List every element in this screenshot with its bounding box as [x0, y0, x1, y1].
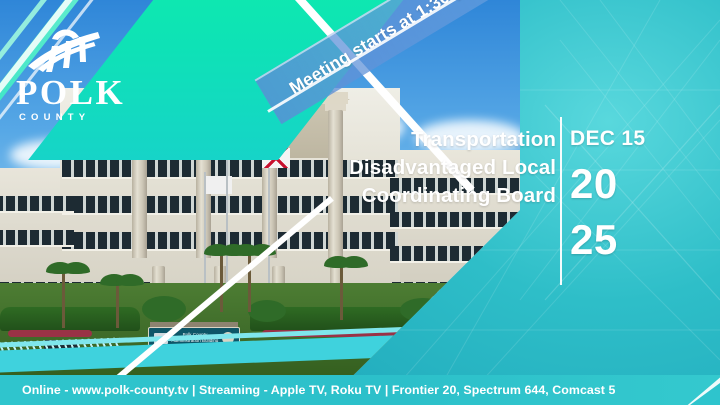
footer-bar: Online - www.polk-county.tv | Streaming …: [0, 375, 720, 405]
polk-county-sunburst-road-logo-icon: [22, 22, 108, 74]
shrub: [248, 300, 286, 322]
window-band: [0, 230, 74, 245]
palm-tree: [220, 250, 223, 312]
meeting-date: DEC 15 20 25: [570, 128, 645, 262]
palm-frond: [116, 274, 144, 286]
meeting-title-line-1: Transportation: [300, 126, 556, 154]
footer-chevron-accent: [690, 383, 720, 405]
palm-frond: [62, 262, 90, 274]
meeting-year-top: 20: [570, 162, 645, 206]
palm-frond: [340, 256, 368, 268]
window-band: [390, 212, 520, 227]
title-date-divider: [560, 117, 562, 285]
flower-bed: [8, 330, 92, 337]
meeting-title-line-3: Coordinating Board: [300, 182, 556, 210]
hedge: [0, 307, 140, 331]
flag-white: [206, 176, 232, 194]
shrub: [142, 296, 186, 322]
footer-streaming-info: Online - www.polk-county.tv | Streaming …: [0, 383, 615, 397]
palm-tree: [248, 250, 251, 312]
window-band: [0, 196, 74, 211]
meeting-year-bottom: 25: [570, 218, 645, 262]
polk-county-logo: POLK COUNTY: [16, 22, 132, 123]
meeting-month-day: DEC 15: [570, 128, 645, 150]
logo-wordmark-county: COUNTY: [16, 112, 132, 123]
palm-tree: [62, 268, 65, 328]
logo-wordmark-polk: POLK: [16, 76, 132, 110]
palm-tree: [340, 262, 343, 320]
palm-tree: [116, 280, 119, 328]
meeting-title: Transportation Disadvantaged Local Coord…: [300, 126, 556, 210]
broadcast-slide: Polk County Administration Building Meet…: [0, 0, 720, 405]
meeting-title-line-2: Disadvantaged Local: [300, 154, 556, 182]
